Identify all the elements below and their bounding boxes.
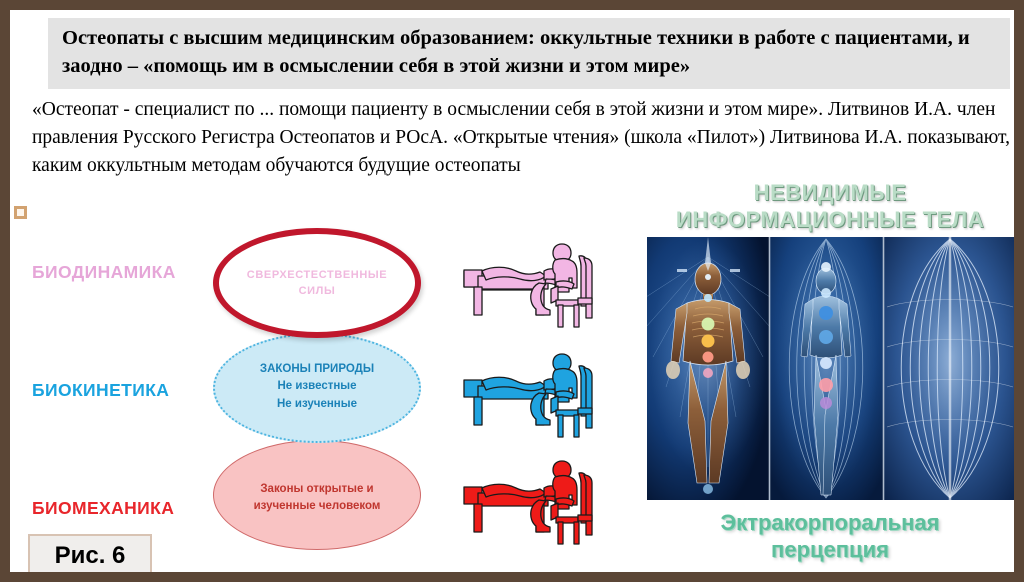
photo-caption: Эктракорпоральная перцепция — [630, 510, 1024, 564]
ellipse-supernatural-forces: СВЕРХЕСТЕСТВЕННЫЕ СИЛЫ — [213, 228, 421, 338]
body-paragraph: «Остеопат - специалист по ... помощи пац… — [32, 96, 1020, 180]
slide-root: Остеопаты с высшим медицинским образован… — [0, 0, 1024, 582]
category-label-biokinetics: БИОКИНЕТИКА — [32, 380, 169, 401]
ellipse-nature-line-3: Не изученные — [260, 396, 374, 413]
photo-panel-aura-body-anatomy — [647, 237, 769, 500]
slide-title-line-1: Остеопаты с высшим медицинским образован… — [62, 27, 830, 49]
category-label-biodynamics: БИОДИНАМИКА — [32, 262, 176, 283]
category-label-biomechanics: БИОМЕХАНИКА — [32, 498, 174, 519]
ellipse-supernatural-line-1: СВЕРХЕСТЕСТВЕННЫЕ — [247, 267, 387, 284]
ellipse-nature-line-2: Не известные — [260, 378, 374, 395]
ellipse-nature-line-1: ЗАКОНЫ ПРИРОДЫ — [260, 361, 374, 378]
photo-panel-aura-body-chakras — [770, 237, 883, 500]
ellipse-laws-of-nature: ЗАКОНЫ ПРИРОДЫ Не известные Не изученные — [213, 333, 421, 443]
photo-heading-line-2: ИНФОРМАЦИОННЫЕ ТЕЛА — [630, 207, 1024, 234]
photo-caption-line-1: Эктракорпоральная — [630, 510, 1024, 537]
ellipse-known-line-1: Законы открытые и — [254, 481, 381, 498]
illustration-osteopath-session-blue — [458, 348, 618, 448]
ellipse-known-line-2: изученные человеком — [254, 498, 381, 515]
photo-heading: НЕВИДИМЫЕ ИНФОРМАЦИОННЫЕ ТЕЛА — [630, 180, 1024, 234]
ellipse-diagram: СВЕРХЕСТЕСТВЕННЫЕ СИЛЫ ЗАКОНЫ ПРИРОДЫ Не… — [213, 228, 421, 538]
aura-bodies-photo — [647, 237, 1017, 500]
illustration-osteopath-session-red — [458, 455, 618, 555]
figure-number-box: Рис. 6 — [28, 534, 152, 578]
ellipse-supernatural-line-2: СИЛЫ — [247, 283, 387, 300]
left-edge-marker-icon — [14, 206, 27, 219]
photo-heading-line-1: НЕВИДИМЫЕ — [630, 180, 1024, 207]
ellipse-known-laws: Законы открытые и изученные человеком — [213, 440, 421, 550]
slide-title: Остеопаты с высшим медицинским образован… — [48, 18, 1010, 89]
illustration-osteopath-session-pink — [458, 238, 618, 338]
photo-caption-line-2: перцепция — [630, 537, 1024, 564]
photo-panel-aura-energy-field — [884, 237, 1017, 500]
